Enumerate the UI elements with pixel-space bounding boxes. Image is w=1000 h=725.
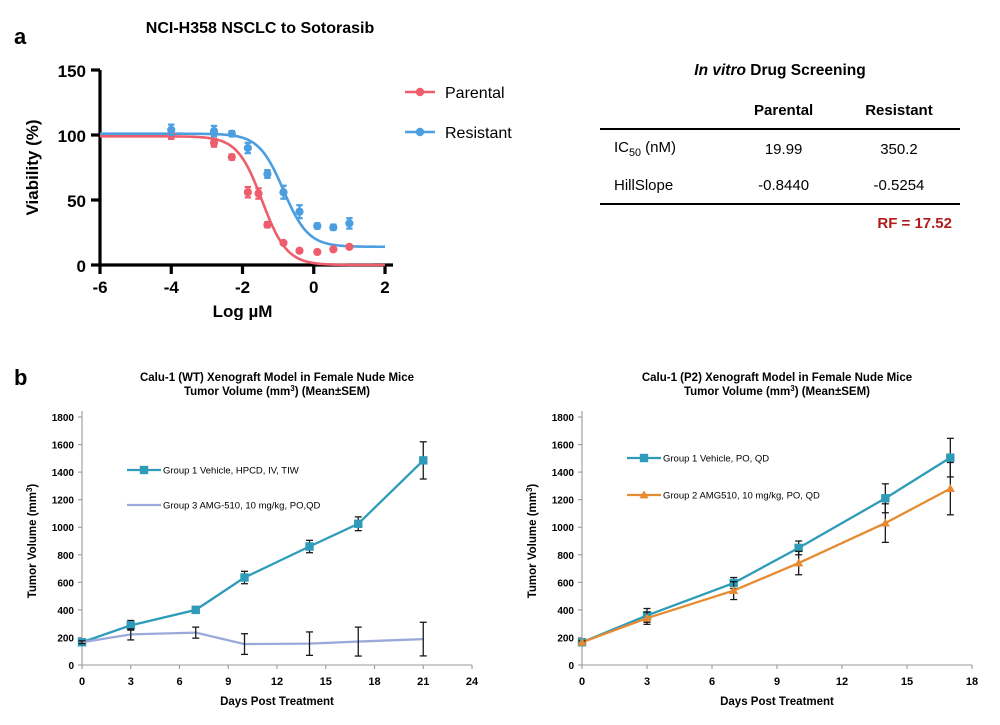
data-point [263, 221, 271, 229]
data-point-marker [354, 520, 362, 528]
y-tick-label: 0 [68, 661, 74, 672]
x-tick-label: 18 [966, 676, 978, 688]
y-axis-label: Viability (%) [23, 119, 42, 215]
legend-item-1: Group 3 AMG-510, 10 mg/kg, PO,QD [127, 501, 320, 512]
series-0 [578, 438, 955, 646]
x-tick-label: 15 [320, 676, 332, 688]
dose-response-title: NCI-H358 NSCLC to Sotorasib [110, 20, 410, 38]
legend-label: Group 1 Vehicle, HPCD, IV, TIW [163, 466, 299, 477]
data-point [263, 170, 271, 178]
chart-title-line1: Calu-1 (WT) Xenograft Model in Female Nu… [140, 372, 414, 384]
data-point-marker [881, 494, 889, 502]
data-point-marker [419, 456, 427, 464]
legend-item-0: Group 1 Vehicle, HPCD, IV, TIW [127, 466, 299, 477]
data-point-marker [946, 484, 955, 492]
table-title: In vitro Drug Screening [600, 62, 960, 80]
series-line [582, 458, 950, 643]
data-point [313, 248, 321, 256]
y-tick-label: 400 [57, 606, 74, 617]
table-header-row: Parental Resistant [600, 93, 960, 129]
calu1-wt-chart: Calu-1 (WT) Xenograft Model in Female Nu… [10, 365, 500, 725]
y-tick-label: 50 [67, 192, 86, 211]
x-tick-label: 9 [225, 676, 231, 688]
y-tick-label: 1600 [552, 441, 575, 452]
ic50-sub: 50 [629, 147, 641, 159]
row-label-ic50: IC50 (nM) [600, 129, 729, 168]
y-tick-label: 0 [568, 661, 574, 672]
cell-ic50-parental: 19.99 [729, 129, 838, 168]
drug-screening-table: Parental Resistant IC50 (nM) 19.99 350.2… [600, 93, 960, 205]
y-tick-label: 200 [57, 633, 74, 644]
x-tick-label: -2 [235, 278, 250, 297]
y-tick-label: 0 [77, 257, 86, 276]
table-corner-cell [600, 93, 729, 129]
table-col-resistant: Resistant [838, 93, 960, 129]
legend-marker [416, 88, 424, 96]
data-point [279, 239, 287, 247]
table-title-italic: In vitro [694, 62, 746, 79]
y-tick-label: 1000 [52, 523, 75, 534]
x-tick-label: 0 [579, 676, 585, 688]
data-point-marker [192, 606, 200, 614]
x-tick-label: 0 [79, 676, 85, 688]
x-tick-label: 12 [271, 676, 283, 688]
y-axis-label: Tumor Volume (mm3) [525, 484, 540, 599]
table-row: IC50 (nM) 19.99 350.2 [600, 129, 960, 168]
y-tick-label: 1400 [552, 468, 575, 479]
calu1-p2-chart: Calu-1 (P2) Xenograft Model in Female Nu… [510, 365, 1000, 725]
x-tick-label: 0 [309, 278, 318, 297]
data-point [295, 208, 303, 216]
series-resistant [167, 125, 353, 232]
y-tick-label: 1200 [552, 496, 575, 507]
dose-response-chart: 050100150-6-4-202Log µMViability (%)Pare… [0, 40, 540, 320]
chart-title-line2: Tumor Volume (mm3) (Mean±SEM) [684, 384, 870, 399]
x-tick-label: 9 [774, 676, 780, 688]
in-vitro-drug-screening-table-wrap: In vitro Drug Screening Parental Resista… [600, 62, 960, 232]
data-point [244, 144, 252, 152]
cell-ic50-resistant: 350.2 [838, 129, 960, 168]
ic50-tail: (nM) [641, 139, 676, 156]
data-point [244, 188, 252, 196]
x-axis-label: Days Post Treatment [720, 696, 834, 708]
x-tick-label: 12 [836, 676, 848, 688]
data-point [167, 126, 175, 134]
y-tick-label: 1600 [52, 441, 75, 452]
cell-hill-resistant: -0.5254 [838, 168, 960, 204]
data-point-marker [140, 466, 148, 474]
data-point-marker [240, 573, 248, 581]
data-point [345, 219, 353, 227]
data-point [228, 153, 236, 161]
y-tick-label: 1400 [52, 468, 75, 479]
legend-marker [416, 128, 424, 136]
x-tick-label: 6 [709, 676, 715, 688]
data-point-marker [946, 453, 954, 461]
x-tick-label: 2 [380, 278, 389, 297]
y-tick-label: 150 [58, 62, 86, 81]
legend-item-parental: Parental [405, 85, 505, 102]
y-tick-label: 400 [557, 606, 574, 617]
y-tick-label: 800 [557, 551, 574, 562]
y-tick-label: 1000 [552, 523, 575, 534]
data-point [254, 189, 262, 197]
y-tick-label: 200 [557, 633, 574, 644]
x-tick-label: 24 [466, 676, 479, 688]
data-point [345, 243, 353, 251]
table-title-rest: Drug Screening [746, 62, 866, 79]
row-label-hillslope: HillSlope [600, 168, 729, 204]
legend-label: Group 3 AMG-510, 10 mg/kg, PO,QD [163, 501, 320, 512]
y-tick-label: 1800 [52, 413, 75, 424]
data-point-marker [640, 454, 648, 462]
table-col-parental: Parental [729, 93, 838, 129]
y-tick-label: 100 [58, 127, 86, 146]
y-tick-label: 800 [57, 551, 74, 562]
x-tick-label: -6 [92, 278, 107, 297]
series-line [82, 633, 423, 644]
cell-hill-parental: -0.8440 [729, 168, 838, 204]
data-point [329, 223, 337, 231]
x-axis-label: Log µM [213, 302, 273, 320]
legend-item-1: Group 2 AMG510, 10 mg/kg, PO, QD [627, 490, 820, 501]
x-tick-label: -4 [164, 278, 180, 297]
x-tick-label: 21 [417, 676, 429, 688]
x-tick-label: 6 [176, 676, 182, 688]
y-tick-label: 1200 [52, 496, 75, 507]
data-point [210, 127, 218, 135]
y-tick-label: 1800 [552, 413, 575, 424]
legend-label: Group 1 Vehicle, PO, QD [663, 454, 769, 465]
chart-title-line2: Tumor Volume (mm3) (Mean±SEM) [184, 384, 370, 399]
legend-label: Resistant [445, 125, 512, 142]
table-row: HillSlope -0.8440 -0.5254 [600, 168, 960, 204]
x-tick-label: 15 [901, 676, 913, 688]
ic50-main: IC [614, 139, 629, 156]
data-point [210, 139, 218, 147]
data-point [313, 222, 321, 230]
chart-title-line1: Calu-1 (P2) Xenograft Model in Female Nu… [642, 372, 912, 384]
x-tick-label: 3 [128, 676, 134, 688]
data-point [295, 247, 303, 255]
x-tick-label: 18 [368, 676, 380, 688]
data-point-marker [305, 542, 313, 550]
legend-item-0: Group 1 Vehicle, PO, QD [627, 454, 769, 465]
resistance-factor-text: RF = 17.52 [600, 215, 960, 232]
y-tick-label: 600 [557, 578, 574, 589]
series-line [82, 460, 423, 642]
y-axis-label: Tumor Volume (mm3) [25, 484, 40, 599]
y-tick-label: 600 [57, 578, 74, 589]
legend-label: Group 2 AMG510, 10 mg/kg, PO, QD [663, 491, 820, 502]
legend-label: Parental [445, 85, 505, 102]
x-tick-label: 3 [644, 676, 650, 688]
legend-item-resistant: Resistant [405, 125, 512, 142]
data-point [228, 130, 236, 138]
data-point [279, 188, 287, 196]
x-axis-label: Days Post Treatment [220, 696, 334, 708]
data-point [329, 245, 337, 253]
fit-curve-1 [100, 134, 385, 247]
